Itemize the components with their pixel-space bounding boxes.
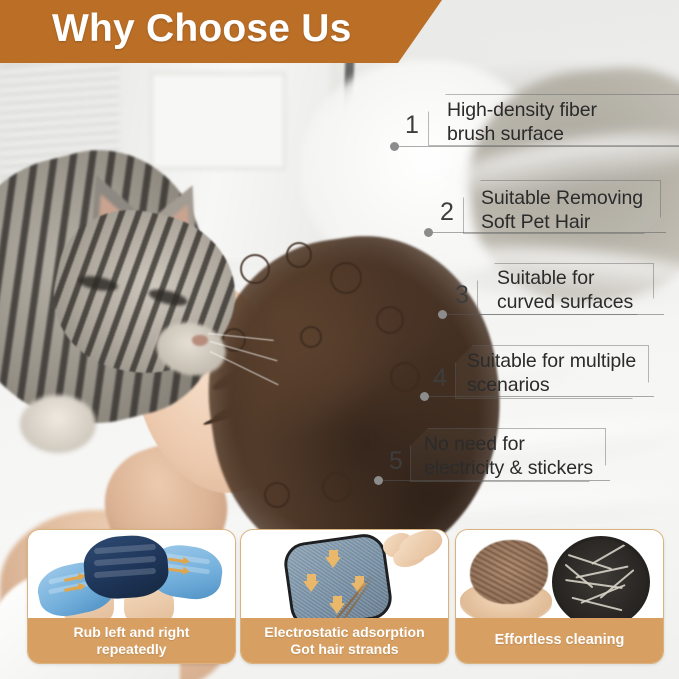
feature-text-5: No need for electricity & stickers [424,432,624,480]
pan-hair-strand [572,597,623,612]
hair-clump [470,540,548,604]
glove-navy-center [82,533,170,601]
hair-collection-pan [552,536,650,625]
feature-leader-line-3 [442,314,664,315]
arrow-stem [329,550,338,557]
collected-hair-image [456,530,663,625]
product-infographic: Why Choose Us High-density fiber brush s… [0,0,679,679]
arrow-stem [307,574,316,581]
feature-dot-3 [438,310,447,319]
feature-dot-4 [420,392,429,401]
thumbnail-caption-2: Electrostatic adsorption Got hair strand… [241,618,448,663]
feature-leader-line-1 [394,146,679,147]
feature-leader-line-4 [424,396,654,397]
gloves-image [28,530,235,625]
feature-dot-1 [390,142,399,151]
thumbnail-card-1[interactable]: Rub left and right repeatedly [27,529,236,664]
feature-text-3: Suitable for curved surfaces [497,266,677,314]
feature-leader-line-5 [378,480,610,481]
thumbnail-caption-3: Effortless cleaning [456,618,663,663]
pan-hair-strand [591,543,627,565]
electrostatic-pad-image [241,530,448,625]
thumbnail-strip: Rub left and right repeatedly [0,529,679,679]
thumbnail-caption-1: Rub left and right repeatedly [28,618,235,663]
feature-number-1: 1 [405,113,419,138]
pan-hair-strand [575,565,628,578]
feature-text-2: Suitable Removing Soft Pet Hair [481,186,679,234]
feature-dot-5 [374,476,383,485]
thumbnail-card-2[interactable]: Electrostatic adsorption Got hair strand… [240,529,449,664]
feature-text-1: High-density fiber brush surface [447,98,679,146]
feature-number-2: 2 [440,200,454,225]
feature-leader-line-2 [428,232,666,233]
arrow-stem [333,596,342,603]
pan-hair-strand [565,564,594,589]
feature-number-5: 5 [389,449,403,474]
feature-text-4: Suitable for multiple scenarios [467,349,667,397]
thumbnail-card-3[interactable]: Effortless cleaning [455,529,664,664]
feature-number-3: 3 [455,283,469,308]
feature-dot-2 [424,228,433,237]
inward-arrow [325,557,341,568]
inward-arrow [303,581,319,592]
feature-number-4: 4 [433,366,447,391]
